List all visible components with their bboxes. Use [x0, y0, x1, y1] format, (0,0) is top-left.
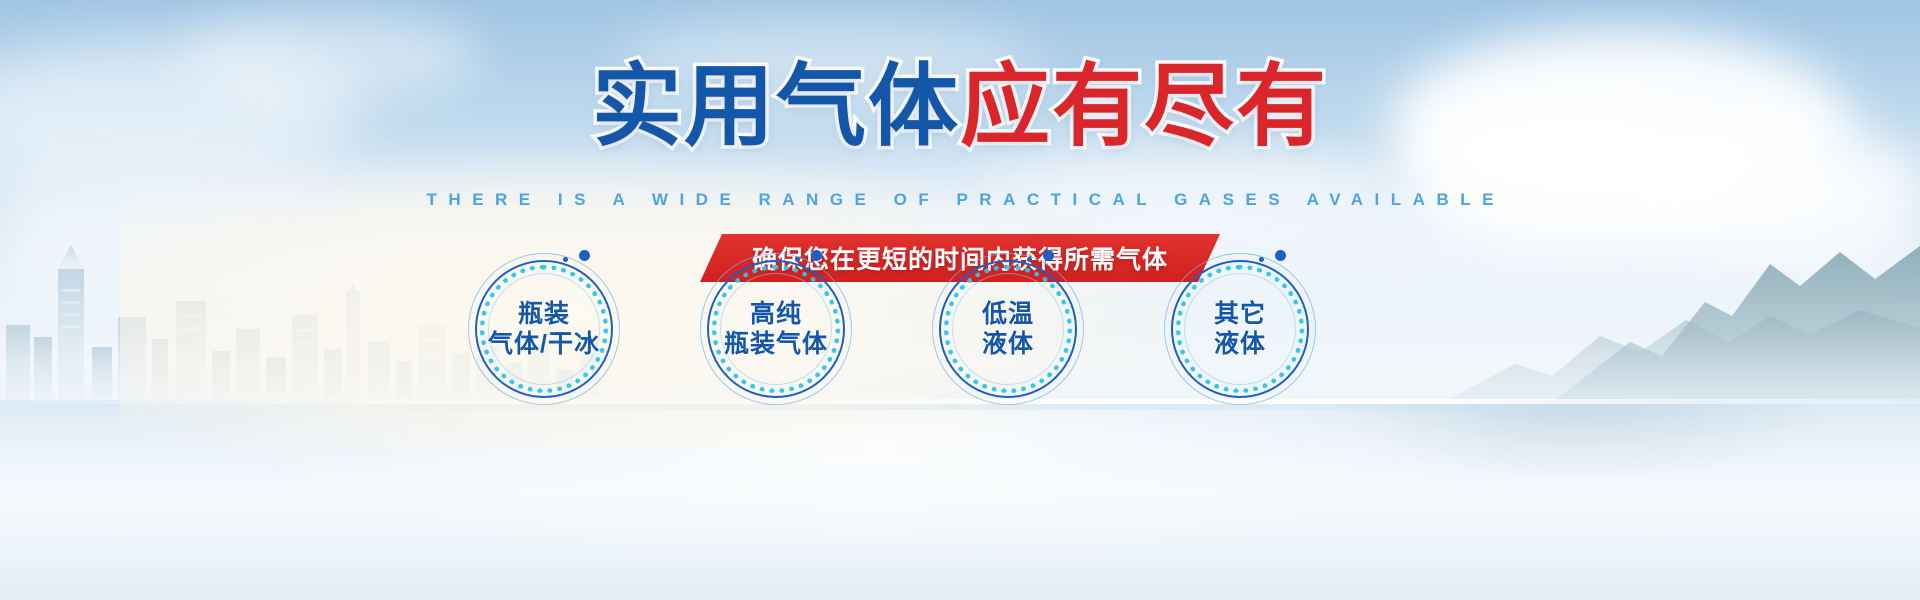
category-label-line2: 液体: [1214, 329, 1266, 360]
category-label-line1: 低温: [982, 299, 1034, 330]
headline-red: 应有尽有: [960, 57, 1328, 157]
category-label: 高纯 瓶装气体: [700, 253, 852, 405]
category-circle-cryogenic-liquid[interactable]: 低温 液体: [932, 253, 1084, 405]
category-label-line2: 瓶装气体: [724, 329, 828, 360]
category-label: 瓶装 气体/干冰: [468, 253, 620, 405]
category-label-line2: 液体: [982, 329, 1034, 360]
category-circle-bottled-gas[interactable]: 瓶装 气体/干冰: [468, 253, 620, 405]
category-label-line2: 气体/干冰: [488, 329, 600, 360]
category-label-line1: 瓶装: [518, 299, 570, 330]
category-label: 其它 液体: [1164, 253, 1316, 405]
page-title: 实用气体应有尽有: [0, 62, 1920, 152]
category-label-line1: 其它: [1214, 299, 1266, 330]
category-circle-group: 瓶装 气体/干冰 高纯 瓶装气体 低温 液体: [0, 253, 1920, 413]
category-circle-other-liquid[interactable]: 其它 液体: [1164, 253, 1316, 405]
hero-banner: 实用气体应有尽有 THERE IS A WIDE RANGE OF PRACTI…: [0, 0, 1920, 600]
category-label-line1: 高纯: [750, 299, 802, 330]
headline-blue: 实用气体: [592, 57, 960, 157]
category-circle-high-purity[interactable]: 高纯 瓶装气体: [700, 253, 852, 405]
category-label: 低温 液体: [932, 253, 1084, 405]
page-subtitle: THERE IS A WIDE RANGE OF PRACTICAL GASES…: [0, 190, 1920, 210]
